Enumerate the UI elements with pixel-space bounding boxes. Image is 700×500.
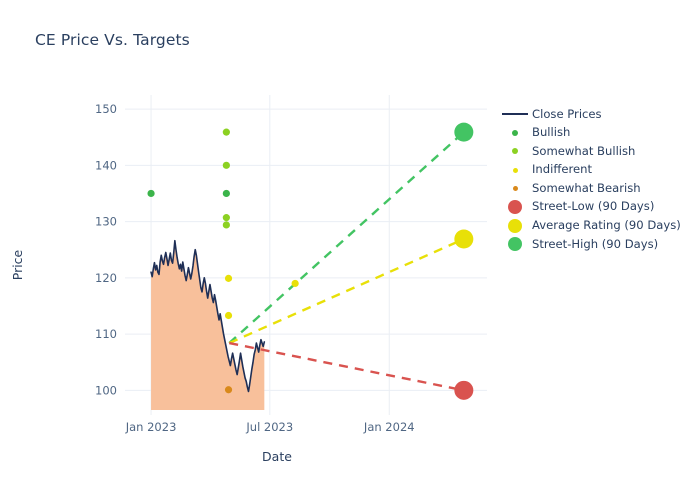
x-axis-ticks: Jan 2023Jul 2023Jan 2024 [125, 410, 415, 434]
rating-point [225, 312, 232, 319]
y-axis-label: Price [10, 249, 25, 280]
legend-item-label: Average Rating (90 Days) [532, 220, 681, 232]
legend-item[interactable]: Indifferent [498, 161, 698, 180]
svg-text:Jan 2024: Jan 2024 [363, 420, 415, 434]
legend-dot-icon [498, 198, 532, 216]
legend-line-icon [498, 105, 532, 123]
svg-text:Jul 2023: Jul 2023 [245, 420, 293, 434]
legend-item[interactable]: Somewhat Bearish [498, 179, 698, 198]
legend-item[interactable]: Average Rating (90 Days) [498, 217, 698, 236]
legend-item[interactable]: Somewhat Bullish [498, 142, 698, 161]
legend-item-label: Bullish [532, 127, 570, 139]
svg-text:120: 120 [95, 271, 117, 285]
rating-point [223, 214, 230, 221]
legend-dot-icon [498, 217, 532, 235]
svg-text:100: 100 [95, 383, 117, 397]
target-projection-lines [229, 132, 464, 390]
legend-item-label: Close Prices [532, 109, 602, 121]
rating-point [223, 221, 230, 228]
rating-point [225, 386, 232, 393]
legend-dot-icon [498, 235, 532, 253]
price-target-marker [454, 230, 473, 249]
legend-item[interactable]: Street-High (90 Days) [498, 235, 698, 254]
chart-container: CE Price Vs. Targets 100110120130140150 … [0, 0, 700, 500]
rating-point [225, 275, 232, 282]
rating-point [223, 129, 230, 136]
legend-dot-icon [498, 124, 532, 142]
svg-text:150: 150 [95, 102, 117, 116]
legend-dot-icon [498, 142, 532, 160]
price-target-markers [454, 123, 473, 400]
rating-point [223, 190, 230, 197]
legend-item[interactable]: Close Prices [498, 105, 698, 124]
legend-dot-icon [498, 180, 532, 198]
rating-point [292, 280, 299, 287]
legend-item-label: Somewhat Bullish [532, 146, 635, 158]
legend-item[interactable]: Street-Low (90 Days) [498, 198, 698, 217]
legend-item-label: Indifferent [532, 164, 592, 176]
svg-text:140: 140 [95, 158, 117, 172]
x-axis-label: Date [262, 449, 292, 464]
price-target-marker [454, 123, 473, 142]
price-target-marker [454, 381, 473, 400]
legend-item[interactable]: Bullish [498, 124, 698, 143]
chart-legend: Close PricesBullishSomewhat BullishIndif… [498, 105, 698, 254]
rating-point [147, 190, 154, 197]
svg-text:110: 110 [95, 327, 117, 341]
legend-item-label: Street-Low (90 Days) [532, 201, 654, 213]
svg-text:Jan 2023: Jan 2023 [125, 420, 177, 434]
y-axis-ticks: 100110120130140150 [95, 102, 117, 397]
svg-text:130: 130 [95, 215, 117, 229]
legend-item-label: Street-High (90 Days) [532, 239, 658, 251]
legend-item-label: Somewhat Bearish [532, 183, 641, 195]
rating-point [223, 162, 230, 169]
legend-dot-icon [498, 161, 532, 179]
